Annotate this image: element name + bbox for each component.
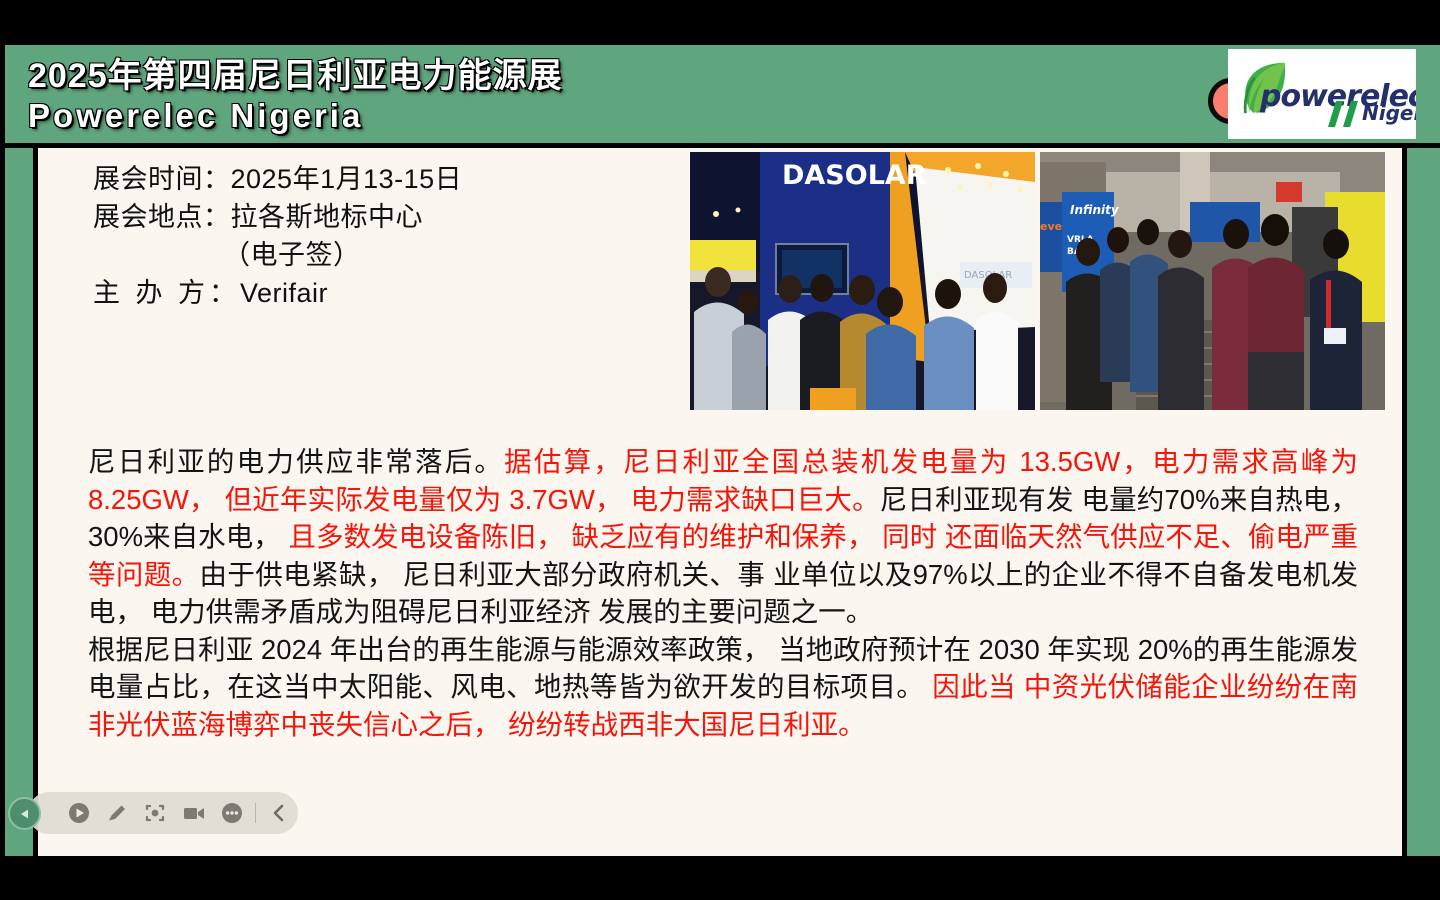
event-date-line: 展会时间：2025年1月13-15日 bbox=[93, 160, 693, 198]
svg-text:Infinity: Infinity bbox=[1070, 203, 1120, 217]
slide-header-title: 2025年第四届尼日利亚电力能源展 Powerelec Nigeria bbox=[28, 52, 1188, 140]
event-organizer-value: Verifair bbox=[240, 278, 328, 308]
event-organizer-line: 主 办 方：Verifair bbox=[93, 274, 693, 312]
event-venue-line: 展会地点：拉各斯地标中心 bbox=[93, 198, 693, 236]
svg-text:eve: eve bbox=[1040, 220, 1062, 233]
previous-slide-button[interactable] bbox=[8, 797, 41, 830]
player-toolbar[interactable] bbox=[28, 792, 298, 834]
pencil-icon bbox=[106, 802, 128, 824]
event-date-value: 2025年1月13-15日 bbox=[231, 164, 463, 194]
slide-viewer: 2025年第四届尼日利亚电力能源展 Powerelec Nigeria powe… bbox=[0, 0, 1440, 900]
svg-text:DASOLAR: DASOLAR bbox=[782, 160, 927, 191]
photo-gallery: DASOLAR DASOLAR bbox=[690, 152, 1385, 410]
focus-frame-icon bbox=[144, 802, 166, 824]
event-venue-label: 展会地点： bbox=[93, 202, 231, 232]
event-venue-value: 拉各斯地标中心 bbox=[231, 202, 424, 232]
play-left-circle-icon bbox=[17, 806, 33, 822]
slide-content: 展会时间：2025年1月13-15日 展会地点：拉各斯地标中心 （电子签） 主 … bbox=[38, 148, 1402, 856]
play-button[interactable] bbox=[60, 792, 98, 834]
screenshot-button[interactable] bbox=[136, 792, 174, 834]
event-organizer-label: 主 办 方： bbox=[93, 278, 240, 308]
exhibition-booth-photo: DASOLAR DASOLAR bbox=[690, 152, 1035, 410]
letterbox-bottom bbox=[0, 856, 1440, 900]
ellipsis-circle-icon bbox=[221, 802, 243, 824]
logo-subtext: Nigeria bbox=[1362, 101, 1416, 125]
title-english: Powerelec Nigeria bbox=[28, 96, 1188, 136]
p1-seg-4: 由于供电紧缺， 尼日利亚大部分政府机关、事 业单位以及97%以上的企业不得不自备… bbox=[88, 559, 1358, 628]
exhibition-aisle-photo: Infinity VRLA BATT eve bbox=[1040, 152, 1385, 410]
powerelec-logo: powerelec Nigeria bbox=[1228, 49, 1416, 139]
event-info-block: 展会时间：2025年1月13-15日 展会地点：拉各斯地标中心 （电子签） 主 … bbox=[93, 160, 693, 312]
body-paragraph-2: 根据尼日利亚 2024 年出台的再生能源与能源效率政策， 当地政府预计在 203… bbox=[88, 631, 1358, 744]
record-button[interactable] bbox=[175, 792, 213, 834]
toolbar-separator bbox=[255, 803, 256, 823]
play-circle-icon bbox=[68, 802, 90, 824]
title-chinese: 2025年第四届尼日利亚电力能源展 bbox=[28, 56, 1188, 96]
event-venue-note: （电子签） bbox=[93, 236, 693, 274]
video-camera-icon bbox=[182, 802, 206, 824]
right-border-rule bbox=[1402, 148, 1407, 856]
event-date-label: 展会时间： bbox=[93, 164, 231, 194]
collapse-button[interactable] bbox=[260, 792, 298, 834]
letterbox-top bbox=[0, 0, 1440, 45]
body-text: 尼日利亚的电力供应非常落后。据估算，尼日利亚全国总装机发电量为 13.5GW，电… bbox=[88, 443, 1358, 743]
more-button[interactable] bbox=[213, 792, 251, 834]
p1-seg-0: 尼日利亚的电力供应非常落后。 bbox=[88, 446, 504, 477]
chevron-left-icon bbox=[270, 803, 288, 823]
body-paragraph-1: 尼日利亚的电力供应非常落后。据估算，尼日利亚全国总装机发电量为 13.5GW，电… bbox=[88, 443, 1358, 631]
logo-bars-icon bbox=[1322, 101, 1362, 127]
annotate-button[interactable] bbox=[98, 792, 136, 834]
